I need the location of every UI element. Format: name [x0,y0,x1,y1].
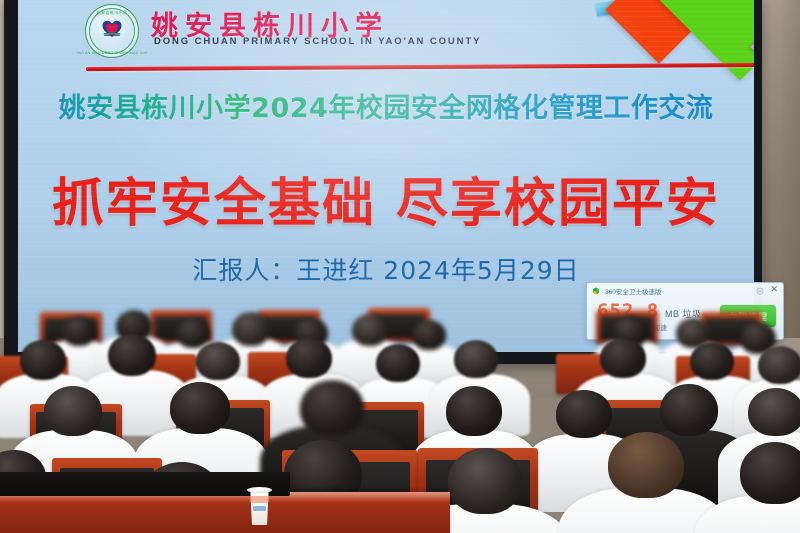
conference-room: 姚安县栋川小学 YAO AN XIAN DONG CHUAN XIAO XUE … [0,0,800,533]
paper-cup-band [250,496,269,503]
paper-cup-rim [247,487,272,493]
slide-headline: 抓牢安全基础 尽享校园平安 [18,161,754,236]
school-name-english: DONG CHUAN PRIMARY SCHOOL IN YAO'AN COUN… [154,36,481,47]
popup-header: 360安全卫士极速版 ✕ [587,283,783,298]
audience-area [0,300,800,533]
desk-back-panel [0,472,290,496]
slide-title: 姚安县栋川小学2024年校园安全网格化管理工作交流 [18,86,754,125]
emblem-heart-icon [101,18,123,38]
close-icon[interactable]: ✕ [770,285,778,294]
paper-cup-logo [253,506,266,511]
360-logo-icon [591,286,601,296]
gear-icon[interactable] [756,287,764,295]
school-emblem-icon: 姚安县栋川小学 YAO AN XIAN DONG CHUAN XIAO XUE [81,2,143,60]
popup-app-name: 360安全卫士极速版 [605,286,661,296]
emblem-arc-bottom-text: YAO AN XIAN DONG CHUAN XIAO XUE [76,51,148,55]
emblem-arc-top-text: 姚安县栋川小学 [97,10,128,16]
header-divider-rule [86,63,754,71]
